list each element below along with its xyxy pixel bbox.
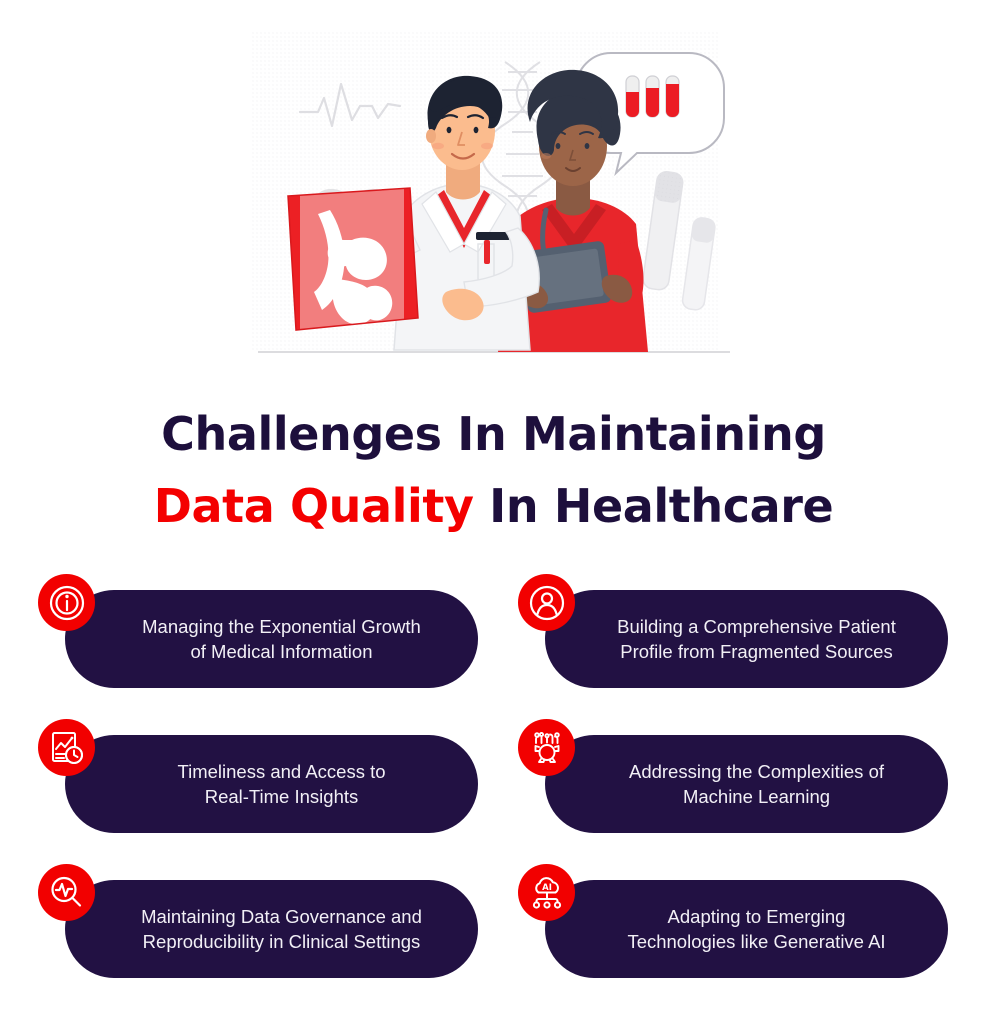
title-line-1: Challenges In Maintaining [0,398,987,470]
challenge-card-data-governance-reproducibility[interactable]: Maintaining Data Governance and Reproduc… [65,880,478,978]
title-line-2: Data Quality In Healthcare [0,470,987,542]
challenge-card-managing-exponential-growth[interactable]: Managing the Exponential Growth of Medic… [65,590,478,688]
infographic-page: Challenges In Maintaining Data Quality I… [0,0,987,1024]
ai-cloud-network-icon[interactable]: AI [518,864,575,921]
card-label: Adapting to Emerging Technologies like G… [627,904,885,954]
card-row-2: Timeliness and Access to Real-Time Insig… [0,735,987,833]
card-row-3: Maintaining Data Governance and Reproduc… [0,880,987,978]
card-row-1: Managing the Exponential Growth of Medic… [0,590,987,688]
title-rest-text: In Healthcare [474,479,834,533]
report-clock-icon[interactable] [38,719,95,776]
title-accent-text: Data Quality [154,479,474,533]
challenge-card-comprehensive-patient-profile[interactable]: Building a Comprehensive Patient Profile… [545,590,948,688]
hero-illustration [0,0,987,372]
info-circle-icon[interactable] [38,574,95,631]
blood-vial-group [626,76,679,117]
user-circle-icon[interactable] [518,574,575,631]
pulse-magnifier-icon[interactable] [38,864,95,921]
card-label: Managing the Exponential Growth of Medic… [142,614,421,664]
challenge-card-timeliness-real-time-insights[interactable]: Timeliness and Access to Real-Time Insig… [65,735,478,833]
card-label: Maintaining Data Governance and Reproduc… [141,904,422,954]
challenges-card-grid: Managing the Exponential Growth of Medic… [0,577,987,977]
gear-circuit-icon[interactable] [518,719,575,776]
xray-film [286,186,422,332]
card-label: Timeliness and Access to Real-Time Insig… [177,759,385,809]
page-title: Challenges In Maintaining Data Quality I… [0,398,987,542]
card-label: Addressing the Complexities of Machine L… [629,759,884,809]
challenge-card-emerging-generative-ai[interactable]: Adapting to Emerging Technologies like G… [545,880,948,978]
challenge-card-machine-learning-complexities[interactable]: Addressing the Complexities of Machine L… [545,735,948,833]
card-label: Building a Comprehensive Patient Profile… [617,614,896,664]
